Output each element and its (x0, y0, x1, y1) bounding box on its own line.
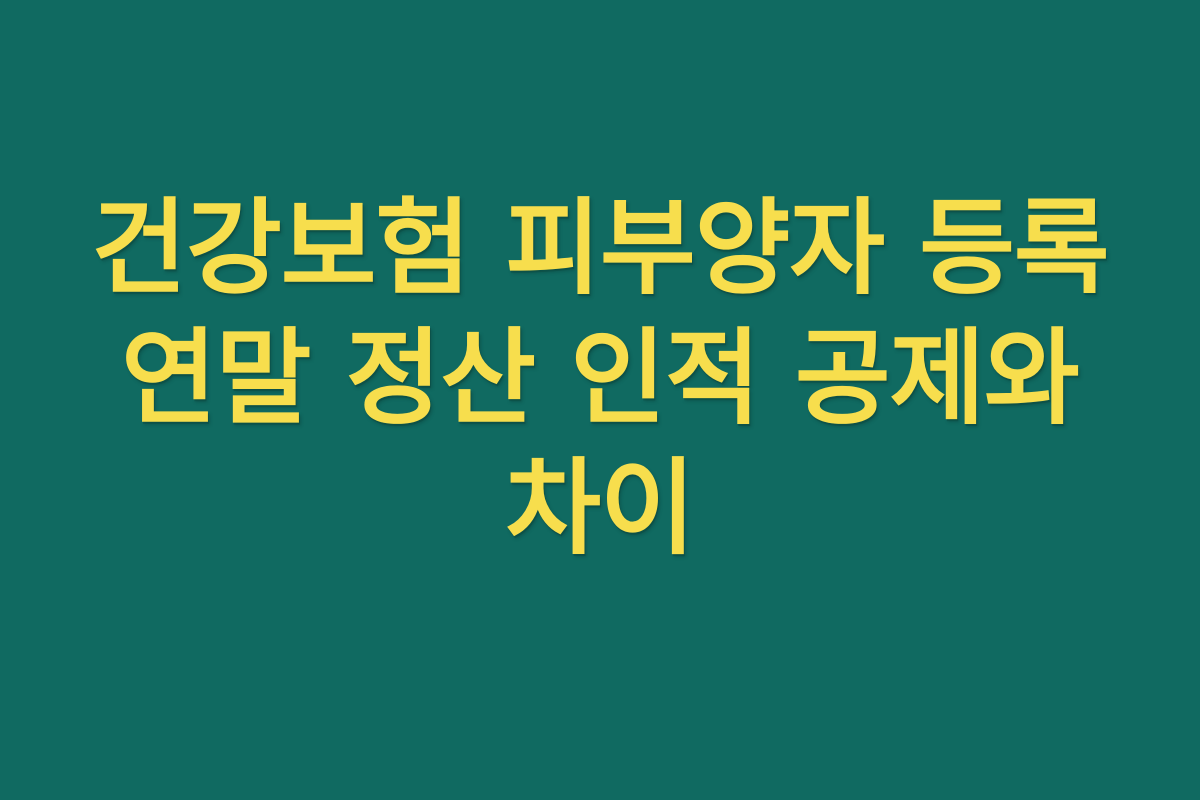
title-card: 건강보험 피부양자 등록 연말 정산 인적 공제와 차이 (0, 0, 1200, 800)
title-line-3: 차이 (40, 443, 1160, 573)
page-title: 건강보험 피부양자 등록 연말 정산 인적 공제와 차이 (0, 183, 1200, 573)
title-line-1: 건강보험 피부양자 등록 (40, 183, 1160, 313)
title-line-2: 연말 정산 인적 공제와 (40, 313, 1160, 443)
